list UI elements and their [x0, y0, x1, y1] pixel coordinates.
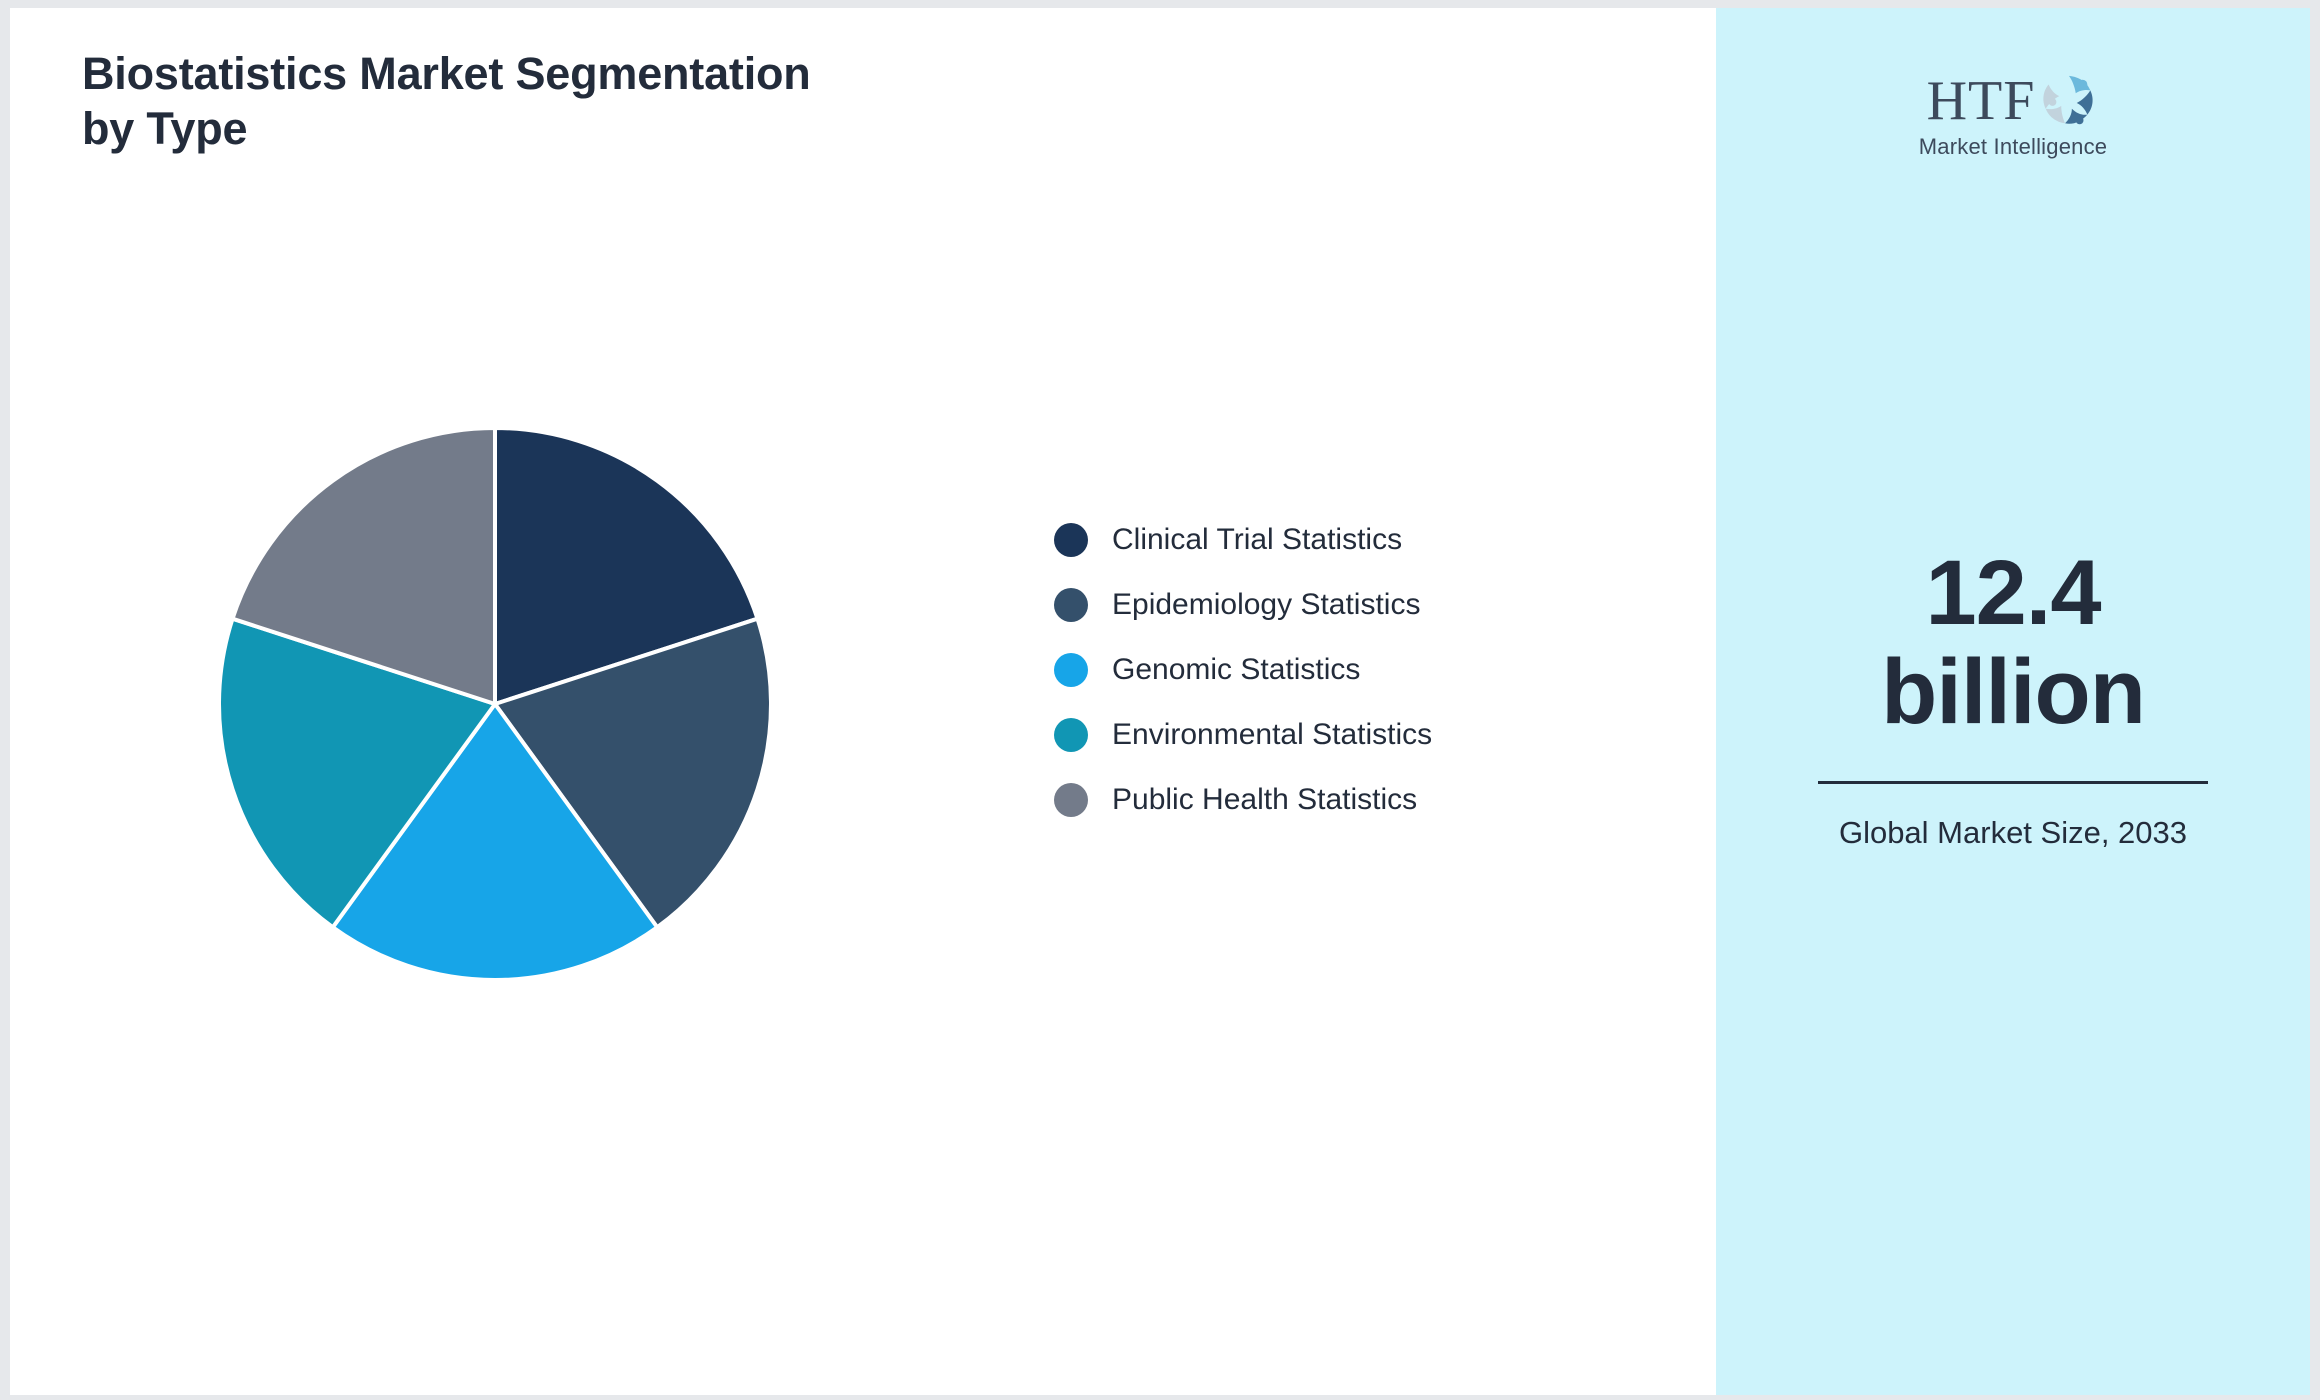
brand-logo: HTF Market Intelligence — [1888, 70, 2138, 158]
headline-stat: 12.4 billion Global Market Size, 2033 — [1778, 544, 2248, 853]
legend-dot-icon — [1054, 783, 1088, 817]
logo-wordmark: HTF — [1927, 73, 2036, 129]
legend-item-environmental-statistics[interactable]: Environmental Statistics — [1054, 717, 1432, 753]
logo-wordmark-row: HTF — [1927, 70, 2100, 132]
chart-legend: Clinical Trial Statistics Epidemiology S… — [1054, 522, 1432, 818]
legend-item-label: Environmental Statistics — [1112, 720, 1432, 750]
pie-chart — [217, 426, 773, 982]
legend-item-public-health-statistics[interactable]: Public Health Statistics — [1054, 782, 1432, 818]
legend-item-label: Genomic Statistics — [1112, 655, 1360, 685]
legend-item-epidemiology-statistics[interactable]: Epidemiology Statistics — [1054, 587, 1432, 623]
stat-value: 12.4 billion — [1778, 544, 2248, 743]
legend-dot-icon — [1054, 653, 1088, 687]
logo-tagline: Market Intelligence — [1919, 136, 2107, 158]
chart-panel: Biostatistics Market Segmentation by Typ… — [10, 8, 1716, 1395]
stat-divider — [1818, 781, 2208, 784]
legend-dot-icon — [1054, 718, 1088, 752]
stat-caption: Global Market Size, 2033 — [1778, 812, 2248, 853]
legend-item-clinical-trial-statistics[interactable]: Clinical Trial Statistics — [1054, 522, 1432, 558]
infographic-card: Biostatistics Market Segmentation by Typ… — [10, 8, 2310, 1395]
legend-dot-icon — [1054, 588, 1088, 622]
htf-swirl-logo-icon — [2037, 70, 2099, 132]
legend-item-label: Clinical Trial Statistics — [1112, 525, 1402, 555]
legend-dot-icon — [1054, 523, 1088, 557]
pie-chart-svg — [217, 426, 773, 982]
legend-item-label: Public Health Statistics — [1112, 785, 1417, 815]
stat-side-panel: HTF Market Intelligence 12.4 billion Glo… — [1716, 8, 2310, 1395]
page-title: Biostatistics Market Segmentation by Typ… — [82, 46, 1082, 157]
legend-item-label: Epidemiology Statistics — [1112, 590, 1420, 620]
legend-item-genomic-statistics[interactable]: Genomic Statistics — [1054, 652, 1432, 688]
